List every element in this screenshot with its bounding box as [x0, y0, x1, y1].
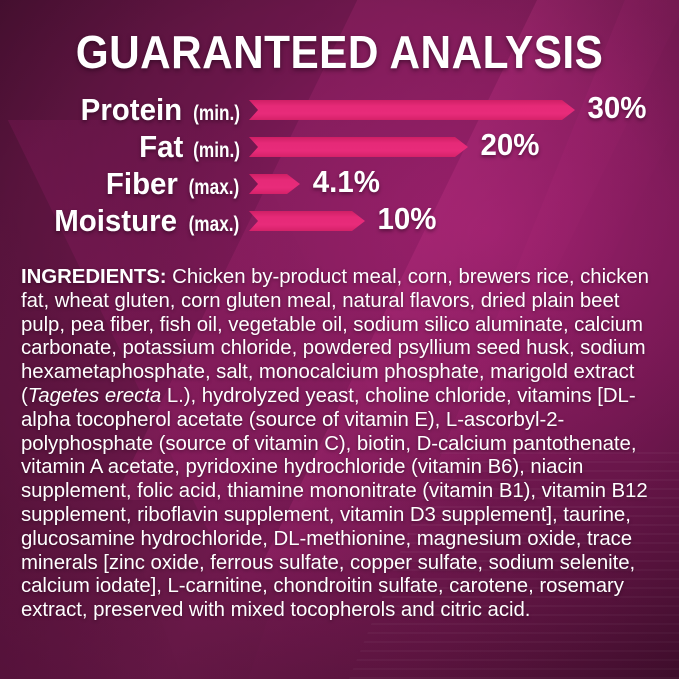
analysis-value-fiber: 4.1%: [313, 164, 380, 200]
analysis-label-protein: Protein(min.): [78, 92, 245, 128]
analysis-bar-wrap-protein: [249, 100, 575, 120]
nutrient-qualifier: (max.): [189, 176, 240, 200]
analysis-label-fiber: Fiber(max.): [104, 166, 245, 202]
analysis-label-moisture: Moisture(max.): [51, 203, 245, 239]
analysis-row-protein: Protein(min.) 30%: [0, 92, 679, 129]
analysis-bar-protein: [249, 100, 575, 120]
analysis-value-protein: 30%: [588, 90, 647, 126]
ingredients-italic-term: Tagetes erecta: [28, 385, 161, 407]
ingredients-heading: INGREDIENTS:: [21, 266, 167, 288]
analysis-bar-wrap-moisture: [249, 211, 365, 231]
analysis-bar-moisture: [249, 211, 365, 231]
analysis-row-fat: Fat(min.) 20%: [0, 129, 679, 166]
analysis-bar-wrap-fiber: [249, 174, 300, 194]
analysis-bar-fiber: [249, 174, 300, 194]
analysis-bar-fat: [249, 137, 468, 157]
analysis-bar-wrap-fat: [249, 137, 468, 157]
guaranteed-analysis-chart: Protein(min.) 30% Fat(min.) 20% Fiber(ma: [0, 92, 679, 240]
ingredients-text-part-2: L.), hydrolyzed yeast, choline chloride,…: [21, 385, 648, 621]
nutrient-qualifier: (min.): [193, 102, 240, 126]
nutrient-qualifier: (max.): [189, 213, 240, 237]
nutrient-name: Moisture: [54, 203, 177, 239]
guaranteed-analysis-panel: GUARANTEED ANALYSIS Protein(min.) 30% Fa…: [0, 0, 679, 679]
nutrient-name: Fat: [140, 129, 184, 165]
analysis-row-moisture: Moisture(max.) 10%: [0, 203, 679, 240]
page-title: GUARANTEED ANALYSIS: [27, 0, 652, 75]
nutrient-name: Fiber: [106, 166, 178, 202]
nutrient-name: Protein: [81, 92, 182, 128]
nutrient-qualifier: (min.): [193, 139, 240, 163]
analysis-value-moisture: 10%: [378, 201, 437, 237]
ingredients-paragraph: INGREDIENTS: Chicken by-product meal, co…: [21, 266, 661, 623]
analysis-value-fat: 20%: [481, 127, 540, 163]
analysis-row-fiber: Fiber(max.) 4.1%: [0, 166, 679, 203]
analysis-label-fat: Fat(min.): [138, 129, 245, 165]
